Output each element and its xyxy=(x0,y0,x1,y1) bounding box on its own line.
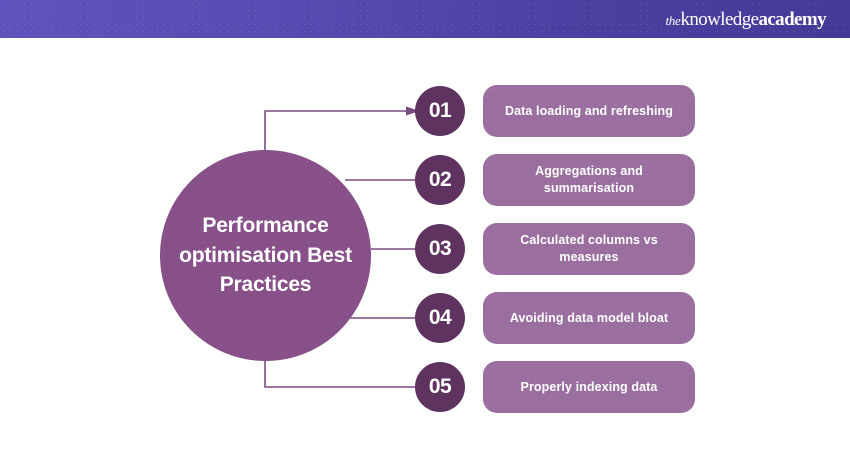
step-card[interactable]: Data loading and refreshing xyxy=(483,85,695,137)
logo-the: the xyxy=(665,13,680,28)
logo-knowledge: knowledge xyxy=(680,9,758,30)
step-badge: 02 xyxy=(415,155,465,205)
page-header: theknowledgeacademy xyxy=(0,0,850,38)
step-badge: 05 xyxy=(415,362,465,412)
step-badge: 01 xyxy=(415,86,465,136)
list-item[interactable]: 04 Avoiding data model bloat xyxy=(415,292,695,344)
step-badge: 03 xyxy=(415,224,465,274)
list-item[interactable]: 03 Calculated columns vs measures xyxy=(415,223,695,275)
center-topic-circle: Performance optimisation Best Practices xyxy=(160,150,371,361)
step-label: Data loading and refreshing xyxy=(491,103,687,120)
list-item[interactable]: 01 Data loading and refreshing xyxy=(415,85,695,137)
list-item[interactable]: 05 Properly indexing data xyxy=(415,361,695,413)
step-label: Properly indexing data xyxy=(507,379,672,396)
step-label: Aggregations and summarisation xyxy=(483,163,695,197)
step-label: Avoiding data model bloat xyxy=(496,310,682,327)
step-card[interactable]: Properly indexing data xyxy=(483,361,695,413)
step-label: Calculated columns vs measures xyxy=(483,232,695,266)
list-item[interactable]: 02 Aggregations and summarisation xyxy=(415,154,695,206)
step-badge: 04 xyxy=(415,293,465,343)
step-card[interactable]: Avoiding data model bloat xyxy=(483,292,695,344)
infographic-stage: Performance optimisation Best Practices … xyxy=(0,38,850,450)
brand-logo: theknowledgeacademy xyxy=(665,10,826,29)
logo-academy: academy xyxy=(758,9,826,30)
step-card[interactable]: Aggregations and summarisation xyxy=(483,154,695,206)
center-title: Performance optimisation Best Practices xyxy=(160,211,371,300)
step-card[interactable]: Calculated columns vs measures xyxy=(483,223,695,275)
